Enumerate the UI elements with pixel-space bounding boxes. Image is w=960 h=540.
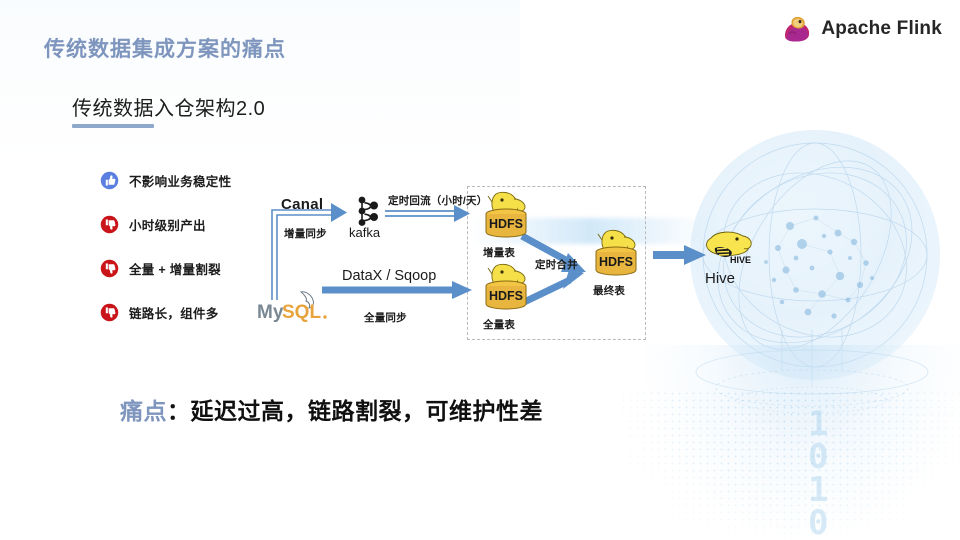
conclusion-text: 痛点：延迟过高，链路割裂，可维护性差 — [120, 392, 543, 426]
hdfs-incremental-node: HDFS — [478, 190, 534, 248]
edge-label-datax-sub: 全量同步 — [364, 310, 407, 325]
svg-text:HIVE: HIVE — [730, 255, 751, 265]
hdfs-full-caption: 全量表 — [483, 317, 515, 332]
svg-text:HDFS: HDFS — [599, 255, 633, 269]
edge-label-canal: Canal — [281, 196, 323, 213]
mysql-dolphin-icon: My SQL — [255, 286, 331, 326]
hdfs-full-node: HDFS — [478, 262, 534, 320]
hive-label: Hive — [705, 270, 735, 287]
hadoop-elephant-icon: HDFS — [478, 190, 534, 248]
hadoop-elephant-icon: HDFS — [588, 228, 644, 286]
kafka-logo: kafka — [349, 194, 393, 240]
svg-text:SQL: SQL — [282, 302, 321, 323]
conclusion-lead: 痛点 — [120, 398, 167, 424]
hdfs-final-node: HDFS — [588, 228, 644, 286]
conclusion-body: ：延迟过高，链路割裂，可维护性差 — [167, 398, 543, 424]
hadoop-elephant-icon: HDFS — [478, 262, 534, 320]
svg-text:HDFS: HDFS — [489, 289, 523, 303]
slide-root: 1 0 1 0 传统数据集成方案的痛点 Apache Flink 传统数据入仓架… — [0, 0, 960, 540]
edge-label-canal-sub: 增量同步 — [284, 226, 327, 241]
hdfs-final-caption: 最终表 — [593, 283, 625, 298]
svg-text:HDFS: HDFS — [489, 217, 523, 231]
svg-text:My: My — [257, 302, 284, 323]
architecture-diagram: My SQL — [0, 0, 960, 540]
kafka-label: kafka — [349, 225, 381, 240]
mysql-logo: My SQL — [255, 286, 331, 326]
edge-label-merge: 定时合并 — [535, 257, 578, 272]
hdfs-incremental-caption: 增量表 — [483, 245, 515, 260]
kafka-icon: kafka — [349, 194, 393, 240]
edge-label-datax: DataX / Sqoop — [342, 268, 436, 284]
hive-node: HIVE — [699, 228, 755, 268]
edge-label-backflow: 定时回流（小时/天） — [388, 193, 487, 208]
hive-bee-elephant-icon: HIVE — [699, 228, 755, 270]
